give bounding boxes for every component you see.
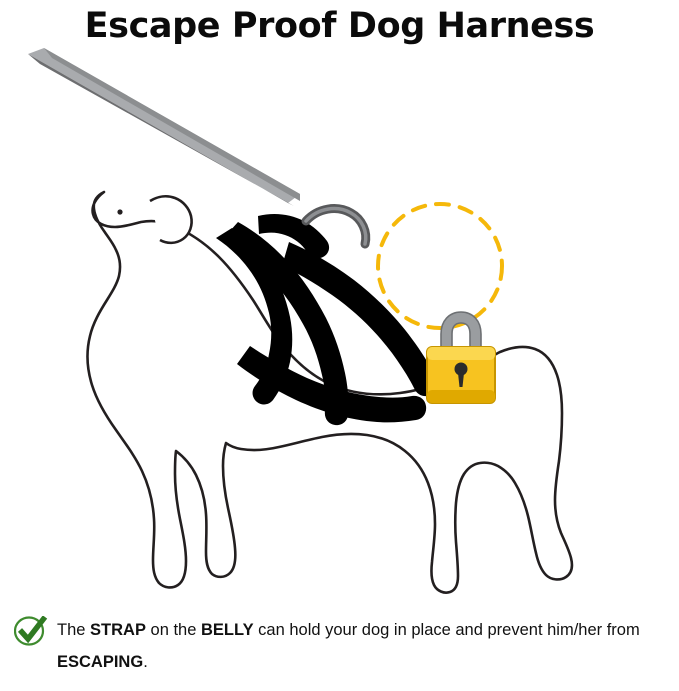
dog-eye	[117, 209, 122, 214]
caption-line2-part2: .	[143, 653, 148, 671]
caption-bold-escaping: ESCAPING	[57, 653, 143, 671]
caption-bold-belly: BELLY	[201, 621, 254, 639]
dog-harness-illustration	[0, 46, 679, 602]
leash-icon	[28, 48, 300, 206]
caption-text: The STRAP on the BELLY can hold your dog…	[57, 614, 665, 678]
caption-line1-part2: on the	[146, 621, 201, 639]
caption-bold-strap: STRAP	[90, 621, 146, 639]
green-check-icon	[14, 616, 48, 648]
caption-line2-part1: him/her from	[547, 621, 640, 639]
caption-block: The STRAP on the BELLY can hold your dog…	[0, 606, 679, 691]
dashed-highlight-circle	[378, 204, 502, 328]
product-infographic: Escape Proof Dog Harness	[0, 0, 679, 691]
caption-line1-part1: The	[57, 621, 90, 639]
caption-line1-part3: can hold your dog in place and prevent	[254, 621, 543, 639]
page-title: Escape Proof Dog Harness	[0, 6, 679, 46]
